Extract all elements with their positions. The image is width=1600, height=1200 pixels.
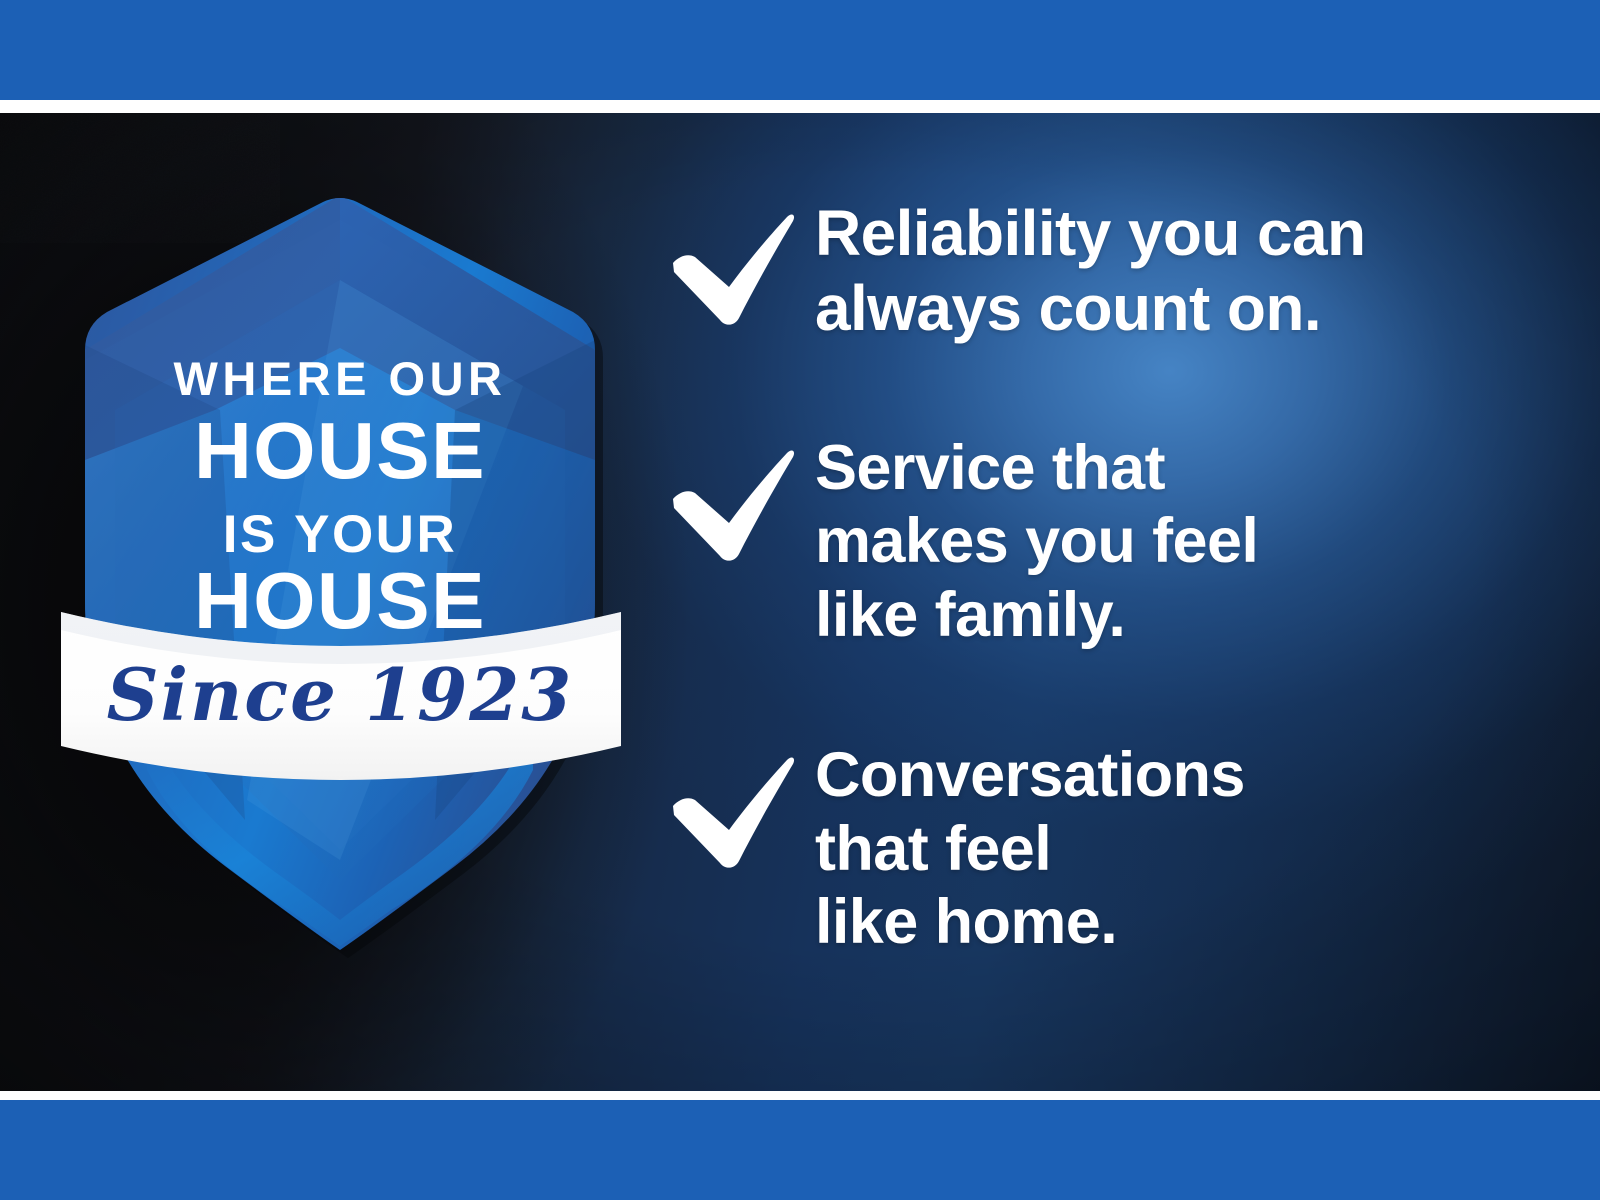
check-icon — [665, 210, 795, 328]
check-icon-wrap-2 — [665, 432, 815, 564]
check-icon — [665, 753, 795, 871]
benefit-item-reliability: Reliability you can always count on. — [665, 196, 1545, 346]
benefit-item-service: Service that makes you feel like family. — [665, 432, 1545, 653]
benefit-text-conversations: Conversations that feel like home. — [815, 739, 1245, 960]
badge-line-1: WHERE OUR — [174, 352, 507, 405]
badge-line-2: HOUSE — [194, 406, 486, 495]
benefit-text-reliability: Reliability you can always count on. — [815, 196, 1366, 346]
check-icon — [665, 446, 795, 564]
benefit-item-conversations: Conversations that feel like home. — [665, 739, 1545, 960]
bottom-white-rule — [0, 1091, 1600, 1100]
top-brand-bar — [0, 0, 1600, 100]
check-icon-wrap-3 — [665, 739, 815, 871]
bottom-brand-bar — [0, 1100, 1600, 1200]
brand-shield-badge: WHERE OUR HOUSE IS YOUR HOUSE Since 1923 — [55, 160, 625, 960]
benefits-list: Reliability you can always count on. Ser… — [665, 196, 1545, 960]
since-year-text: Since 1923 — [107, 652, 574, 737]
promo-graphic: WHERE OUR HOUSE IS YOUR HOUSE Since 1923… — [0, 0, 1600, 1200]
top-white-rule — [0, 100, 1600, 113]
benefit-text-service: Service that makes you feel like family. — [815, 432, 1258, 653]
badge-line-4: HOUSE — [194, 556, 486, 645]
check-icon-wrap-1 — [665, 196, 815, 328]
